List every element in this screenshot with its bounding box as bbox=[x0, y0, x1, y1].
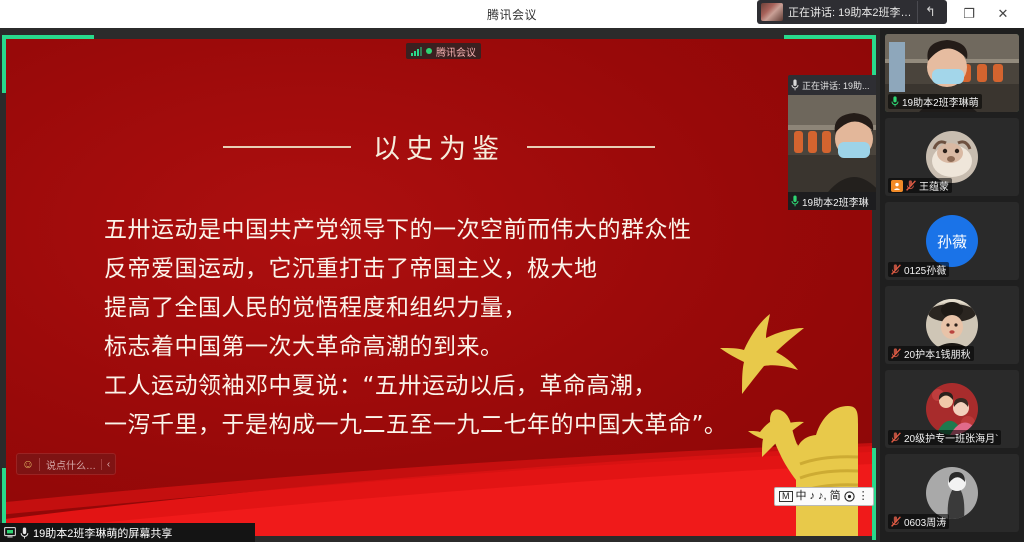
slide-body-line: 标志着中国第一次大革命高潮的到来。 bbox=[104, 328, 804, 367]
ime-language-button[interactable]: 中 bbox=[796, 491, 807, 502]
restore-window-icon[interactable]: ↰ bbox=[917, 1, 943, 23]
ime-menu-icon[interactable]: ⋮ bbox=[858, 491, 869, 502]
host-badge-icon bbox=[891, 180, 903, 192]
title-rule-left bbox=[223, 146, 351, 148]
shared-screen-stage: 以史为鉴 五卅运动是中国共产党领导下的一次空前而伟大的群众性 反帝爱国运动，它沉… bbox=[0, 28, 880, 542]
tencent-meeting-window: 腾讯会议 — ❐ ✕ 正在讲话: 19助本2班李琳... ↰ bbox=[0, 0, 1024, 542]
avatar bbox=[926, 131, 978, 183]
participant-tile[interactable]: 20级护专一班张海月` bbox=[885, 370, 1019, 448]
participant-name: 0603周涛 bbox=[904, 514, 946, 529]
self-view-video bbox=[788, 95, 876, 192]
participant-tile[interactable]: 19助本2班李琳萌 bbox=[885, 34, 1019, 112]
share-status-label: 19助本2班李琳萌的屏幕共享 bbox=[33, 525, 172, 541]
speaker-video-thumb bbox=[761, 3, 783, 21]
participant-name: 19助本2班李琳萌 bbox=[902, 94, 979, 109]
avatar bbox=[926, 383, 978, 435]
chat-input-bar[interactable]: ☺ 说点什么… ‹ bbox=[16, 453, 116, 475]
microphone-on-icon bbox=[791, 195, 799, 207]
share-app-badge: 腾讯会议 bbox=[406, 43, 481, 59]
slide-title-row: 以史为鉴 bbox=[6, 127, 872, 166]
ime-punctuation-icon[interactable]: ♪, bbox=[818, 491, 827, 502]
participant-tile[interactable]: 王蕴蒙 bbox=[885, 118, 1019, 196]
self-view-panel[interactable]: 正在讲话: 19助... bbox=[788, 75, 876, 212]
chevron-left-icon[interactable]: ‹ bbox=[101, 459, 115, 470]
share-status-bar: 19助本2班李琳萌的屏幕共享 bbox=[0, 523, 255, 542]
participant-label: 20护本1钱朋秋 0125孙薇 bbox=[888, 262, 949, 277]
slide-body-line: 反帝爱国运动，它沉重打击了帝国主义，极大地 bbox=[104, 250, 804, 289]
participant-label: 0603周涛 bbox=[888, 514, 949, 529]
participant-name: 20级护专一班张海月` bbox=[904, 430, 998, 445]
slide-body: 五卅运动是中国共产党领导下的一次空前而伟大的群众性 反帝爱国运动，它沉重打击了帝… bbox=[104, 211, 804, 445]
participant-tile[interactable]: 20护本1钱朋秋 bbox=[885, 286, 1019, 364]
participant-label: 王蕴蒙 bbox=[888, 178, 952, 193]
participant-name: 0125孙薇 bbox=[904, 262, 946, 277]
screen-share-icon bbox=[4, 527, 16, 538]
self-view-speaking-label: 正在讲话: 19助... bbox=[802, 79, 870, 92]
self-view-name: 19助本2班李琳 bbox=[802, 194, 869, 209]
slide-title: 以史为鉴 bbox=[373, 127, 505, 166]
microphone-icon bbox=[791, 79, 799, 91]
microphone-muted-icon bbox=[891, 516, 901, 527]
active-speaker-pill[interactable]: 正在讲话: 19助本2班李琳... ↰ bbox=[757, 0, 947, 24]
maximize-button[interactable]: ❐ bbox=[952, 0, 986, 28]
self-view-footer: 19助本2班李琳 bbox=[788, 192, 876, 210]
window-title: 腾讯会议 bbox=[487, 6, 537, 23]
signal-bars-icon bbox=[411, 47, 422, 56]
participant-tile[interactable]: 0603周涛 bbox=[885, 454, 1019, 532]
microphone-icon bbox=[20, 527, 29, 539]
participant-name: 20护本1钱朋秋 bbox=[904, 346, 971, 361]
microphone-muted-icon bbox=[891, 264, 901, 275]
ime-tool-icon[interactable] bbox=[844, 491, 855, 502]
microphone-on-icon bbox=[891, 96, 899, 107]
participant-rail[interactable]: 19助本2班李琳萌 bbox=[880, 28, 1024, 542]
slide-body-line: 工人运动领袖邓中夏说：“五卅运动以后，革命高潮， bbox=[104, 367, 804, 406]
ime-toolbar[interactable]: M 中 ♪ ♪, 简 ⋮ bbox=[774, 487, 874, 506]
avatar-initials: 孙薇 bbox=[937, 231, 967, 252]
share-app-name: 腾讯会议 bbox=[436, 44, 476, 59]
emoji-smiley-icon[interactable]: ☺ bbox=[17, 457, 39, 471]
green-status-dot bbox=[426, 48, 432, 54]
active-speaker-label: 正在讲话: 19助本2班李琳... bbox=[788, 4, 912, 20]
share-frame: 以史为鉴 五卅运动是中国共产党领导下的一次空前而伟大的群众性 反帝爱国运动，它沉… bbox=[2, 35, 876, 540]
slide-body-line: 五卅运动是中国共产党领导下的一次空前而伟大的群众性 bbox=[104, 211, 804, 250]
close-button[interactable]: ✕ bbox=[986, 0, 1020, 28]
chat-input[interactable]: 说点什么… bbox=[40, 457, 101, 472]
self-view-header: 正在讲话: 19助... bbox=[788, 75, 876, 95]
participant-label: 19助本2班李琳萌 bbox=[888, 94, 982, 109]
microphone-muted-icon bbox=[891, 432, 901, 443]
slide-body-line: 提高了全国人民的觉悟程度和组织力量， bbox=[104, 289, 804, 328]
slide-body-line: 一泻千里，于是构成一九二五至一九二七年的中国大革命”。 bbox=[104, 406, 804, 445]
title-rule-right bbox=[527, 146, 655, 148]
ime-script-button[interactable]: 简 bbox=[830, 491, 841, 502]
shared-slide: 以史为鉴 五卅运动是中国共产党领导下的一次空前而伟大的群众性 反帝爱国运动，它沉… bbox=[6, 39, 872, 536]
participant-label: 20护本1钱朋秋 bbox=[888, 346, 974, 361]
avatar bbox=[926, 299, 978, 351]
participant-tile[interactable]: 孙薇 20护本1钱朋秋 0125孙薇 bbox=[885, 202, 1019, 280]
avatar: 孙薇 bbox=[926, 215, 978, 267]
microphone-muted-icon bbox=[891, 348, 901, 359]
ime-mode-button[interactable]: M bbox=[779, 491, 793, 502]
microphone-muted-icon bbox=[906, 180, 916, 191]
avatar bbox=[926, 467, 978, 519]
participant-label: 20级护专一班张海月` bbox=[888, 430, 1001, 445]
ime-tone-icon[interactable]: ♪ bbox=[810, 491, 816, 502]
participant-name: 王蕴蒙 bbox=[919, 178, 949, 193]
